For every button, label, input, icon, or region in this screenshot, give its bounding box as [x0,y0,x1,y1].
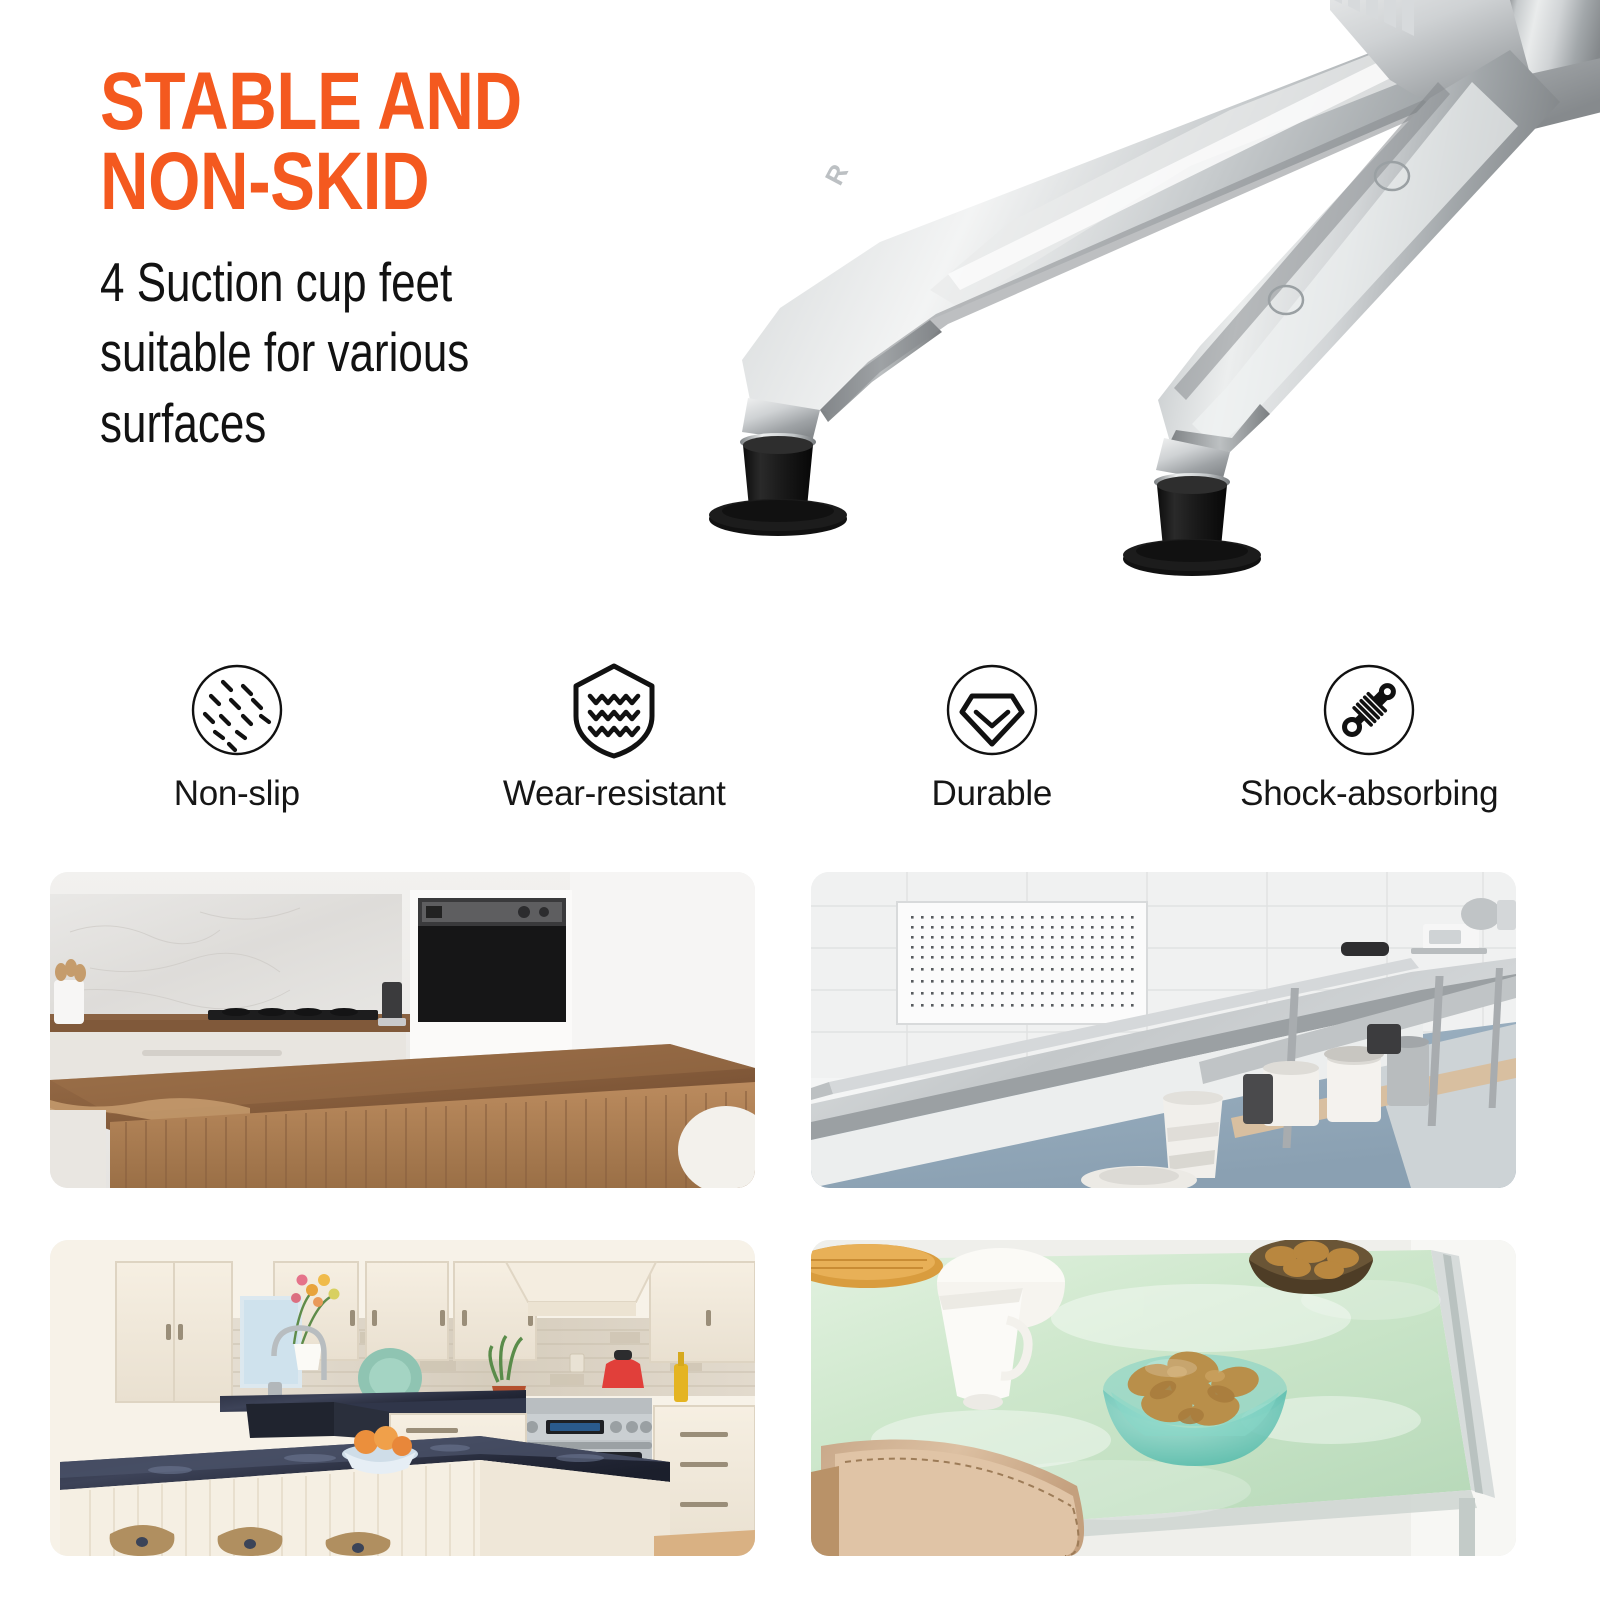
feature-non-slip: Non-slip [48,660,426,820]
feature-wear-resistant: Wear-resistant [426,660,804,820]
shield-wave-icon [564,660,664,760]
product-legs-photo: R [630,0,1600,610]
svg-text:R: R [819,159,854,190]
tread-circle-icon [187,660,287,760]
feature-label: Shock-absorbing [1240,774,1498,814]
feature-durable: Durable [803,660,1181,820]
suction-cup-foot-right [1123,476,1261,576]
diamond-circle-icon [942,660,1042,760]
application-photo-grid [50,872,1550,1552]
photo-card-commercial-stainless-kitchen [811,872,1516,1188]
leg-marking-r: R [819,159,854,190]
product-feature-page: STABLE AND NON-SKID 4 Suction cup feet s… [0,0,1600,1600]
feature-label: Durable [932,774,1052,814]
hero-subtitle: 4 Suction cup feet suitable for various … [100,247,548,458]
feature-shock-absorbing: Shock-absorbing [1181,660,1559,820]
feature-label: Wear-resistant [503,774,726,814]
page-title: STABLE AND NON-SKID [100,62,608,221]
hero-text-block: STABLE AND NON-SKID 4 Suction cup feet s… [100,62,720,458]
photo-card-granite-island-kitchen [50,1240,755,1556]
suction-cup-foot-left [709,436,847,536]
shock-spring-icon [1319,660,1419,760]
photo-card-glass-dining-table [811,1240,1516,1556]
photo-card-modern-wood-island-kitchen [50,872,755,1188]
feature-label: Non-slip [174,774,300,814]
feature-icon-row: Non-slip Wear-resistant Durable [48,660,1558,820]
